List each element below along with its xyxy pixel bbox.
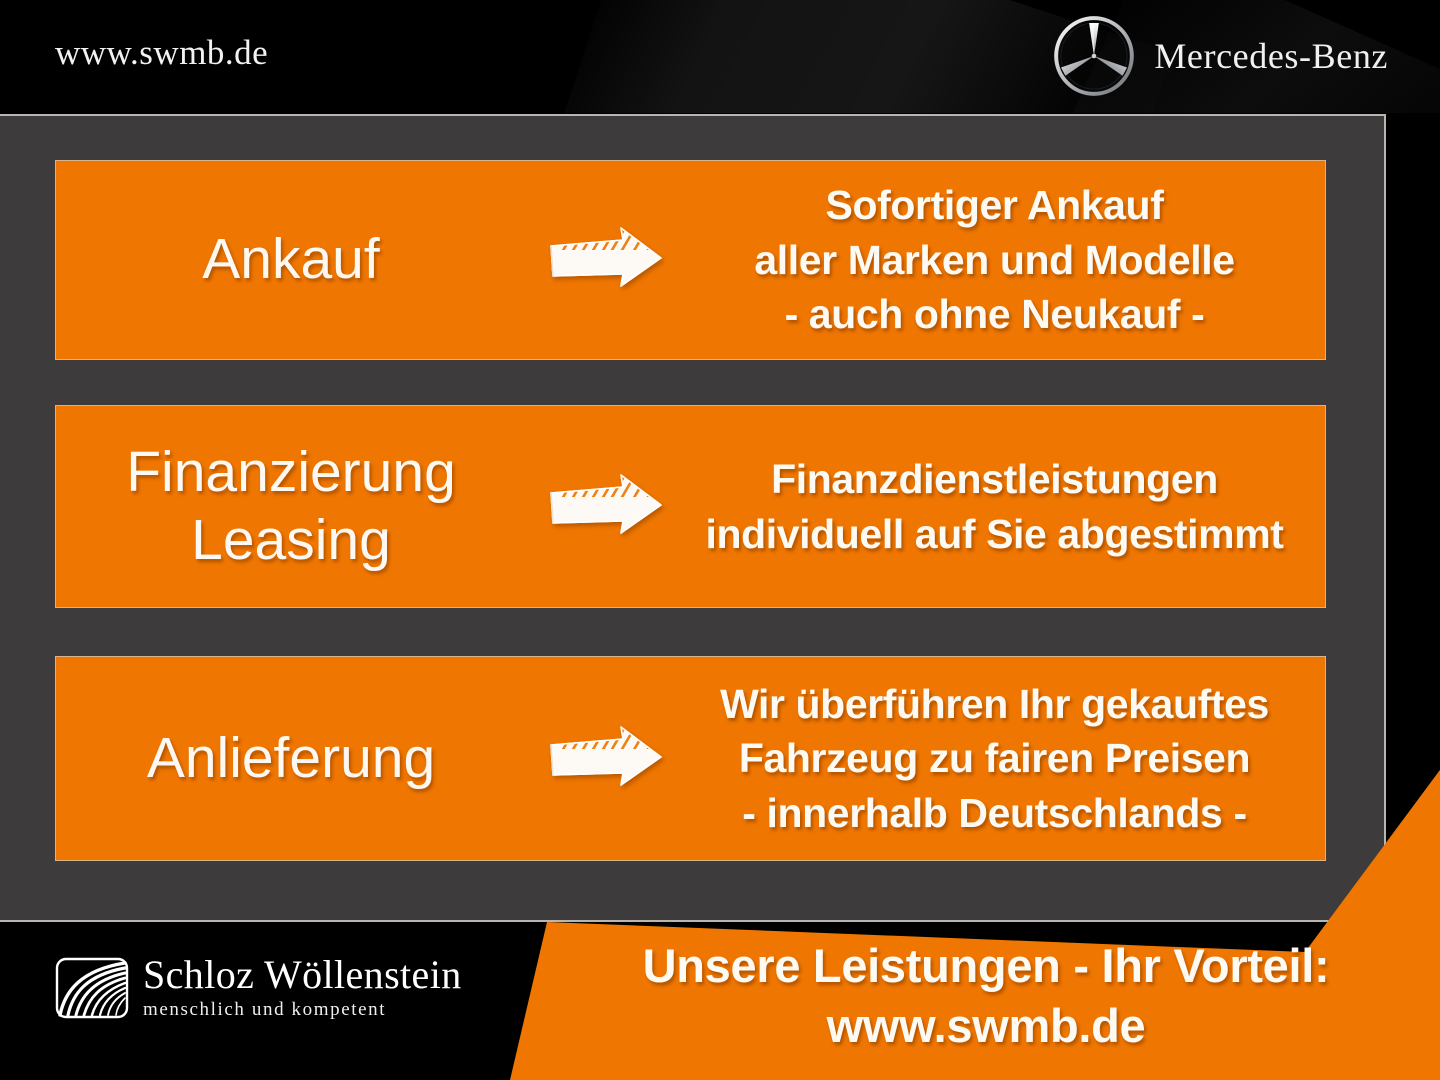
sketch-arrow-right-icon <box>545 224 667 296</box>
schloz-woellenstein-text: Schloz Wöllenstein menschlich und kompet… <box>143 955 462 1021</box>
dealer-name: Schloz Wöllenstein <box>143 955 462 996</box>
schloz-woellenstein-mark-icon <box>55 957 129 1019</box>
service-description-finanzierung: Finanzdienstleistungen individuell auf S… <box>676 452 1325 561</box>
service-arrow-2 <box>536 471 676 543</box>
header-site-url[interactable]: www.swmb.de <box>55 33 268 73</box>
service-title-finanzierung: Finanzierung Leasing <box>56 439 536 574</box>
service-row-ankauf[interactable]: Ankauf <box>55 160 1326 360</box>
service-row-finanzierung[interactable]: Finanzierung Leasing <box>55 405 1326 608</box>
services-panel: Ankauf <box>0 114 1386 922</box>
dealer-tagline: menschlich und kompetent <box>143 999 462 1021</box>
header-bar: www.swmb.de <box>0 0 1440 113</box>
service-description-anlieferung: Wir überführen Ihr gekauftes Fahrzeug zu… <box>676 677 1325 841</box>
footer-headline: Unsere Leistungen - Ihr Vorteil: www.swm… <box>560 936 1412 1056</box>
mercedes-star-icon <box>1050 12 1138 100</box>
schloz-woellenstein-logo: Schloz Wöllenstein menschlich und kompet… <box>55 955 462 1021</box>
service-title-anlieferung: Anlieferung <box>56 725 536 792</box>
slide-canvas: www.swmb.de <box>0 0 1440 1080</box>
service-row-anlieferung[interactable]: Anlieferung <box>55 656 1326 861</box>
service-title-ankauf: Ankauf <box>56 226 536 293</box>
service-description-ankauf: Sofortiger Ankauf aller Marken und Model… <box>676 178 1325 342</box>
mercedes-benz-wordmark: Mercedes-Benz <box>1154 35 1388 77</box>
mercedes-benz-logo: Mercedes-Benz <box>1050 12 1388 100</box>
sketch-arrow-right-icon <box>545 471 667 543</box>
service-arrow-3 <box>536 723 676 795</box>
service-arrow-1 <box>536 224 676 296</box>
sketch-arrow-right-icon <box>545 723 667 795</box>
